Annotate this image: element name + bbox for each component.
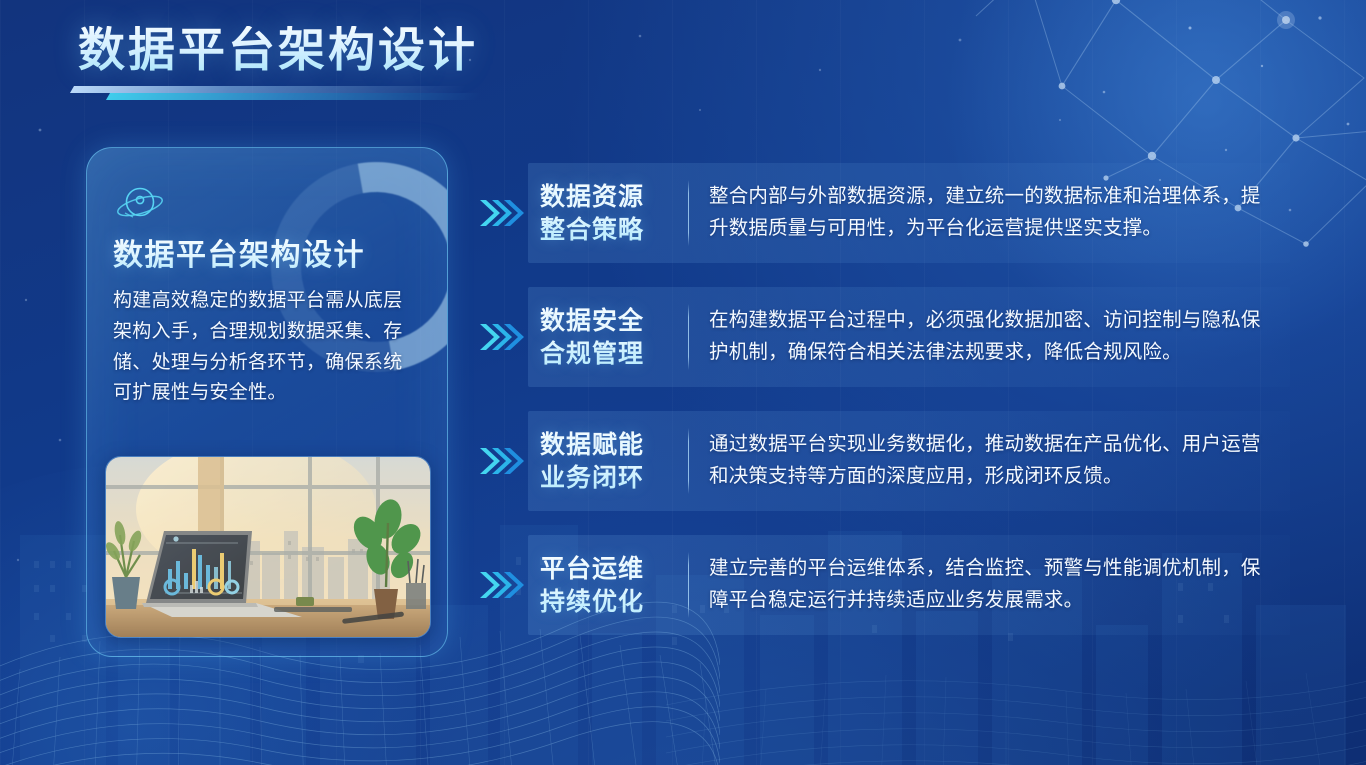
list-item-title-line1: 平台运维: [540, 552, 680, 586]
title-underline-upper-bar: [70, 86, 466, 93]
triple-chevron-right-icon: [478, 570, 528, 600]
list-item-title: 数据资源 整合策略: [528, 180, 680, 247]
list-item-title-line2: 业务闭环: [540, 461, 680, 495]
feature-card-title: 数据平台架构设计: [113, 238, 419, 274]
list-item[interactable]: 数据安全 合规管理 在构建数据平台过程中，必须强化数据加密、访问控制与隐私保护机…: [478, 287, 1290, 387]
list-item[interactable]: 平台运维 持续优化 建立完善的平台运维体系，结合监控、预警与性能调优机制，保障平…: [478, 535, 1290, 635]
list-item-divider: [688, 304, 689, 370]
list-item-title: 数据赋能 业务闭环: [528, 428, 680, 495]
list-item[interactable]: 数据赋能 业务闭环 通过数据平台实现业务数据化，推动数据在产品优化、用户运营和决…: [478, 411, 1290, 511]
feature-card[interactable]: 数据平台架构设计 构建高效稳定的数据平台需从底层架构入手，合理规划数据采集、存储…: [86, 147, 448, 657]
list-item-title-line1: 数据安全: [540, 304, 680, 338]
list-item-description: 在构建数据平台过程中，必须强化数据加密、访问控制与隐私保护机制，确保符合相关法律…: [709, 305, 1290, 368]
list-item-description: 通过数据平台实现业务数据化，推动数据在产品优化、用户运营和决策支持等方面的深度应…: [709, 429, 1290, 492]
list-item-title-line1: 数据资源: [540, 180, 680, 214]
list-item-description: 建立完善的平台运维体系，结合监控、预警与性能调优机制，保障平台稳定运行并持续适应…: [709, 553, 1290, 616]
title-underline-lower-bar: [106, 93, 482, 100]
list-item-title-line1: 数据赋能: [540, 428, 680, 462]
list-item[interactable]: 数据资源 整合策略 整合内部与外部数据资源，建立统一的数据标准和治理体系，提升数…: [478, 163, 1290, 263]
planet-ring-icon: [113, 184, 169, 224]
list-item-divider: [688, 180, 689, 246]
list-item-divider: [688, 428, 689, 494]
feature-card-photo: [105, 456, 431, 638]
list-item-description: 整合内部与外部数据资源，建立统一的数据标准和治理体系，提升数据质量与可用性，为平…: [709, 181, 1290, 244]
page-header: 数据平台架构设计: [78, 26, 498, 102]
list-item-title: 数据安全 合规管理: [528, 304, 680, 371]
feature-card-description: 构建高效稳定的数据平台需从底层架构入手，合理规划数据采集、存储、处理与分析各环节…: [113, 286, 419, 409]
triple-chevron-right-icon: [478, 198, 528, 228]
list-item-divider: [688, 552, 689, 618]
list-item-title-line2: 整合策略: [540, 213, 680, 247]
page-title: 数据平台架构设计: [78, 26, 498, 77]
slide-canvas: 数据平台架构设计 数据平台架构设计 构建高效稳定的数据平台需从底层架构入手，合理…: [0, 0, 1366, 765]
triple-chevron-right-icon: [478, 322, 528, 352]
list-item-title: 平台运维 持续优化: [528, 552, 680, 619]
list-item-title-line2: 持续优化: [540, 585, 680, 619]
feature-card-content: 数据平台架构设计 构建高效稳定的数据平台需从底层架构入手，合理规划数据采集、存储…: [87, 148, 447, 409]
triple-chevron-right-icon: [478, 446, 528, 476]
list-item-title-line2: 合规管理: [540, 337, 680, 371]
title-underline: [78, 86, 498, 102]
feature-list: 数据资源 整合策略 整合内部与外部数据资源，建立统一的数据标准和治理体系，提升数…: [478, 163, 1290, 659]
